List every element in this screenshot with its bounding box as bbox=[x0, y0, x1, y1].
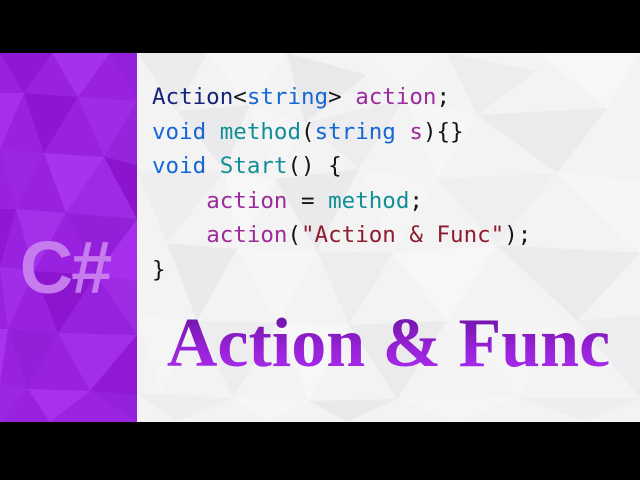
content-band: Action & Func bbox=[0, 53, 640, 422]
code-line: Action<string> action; bbox=[152, 80, 531, 115]
code-token-punc: = bbox=[287, 188, 328, 214]
sidebar-panel: C# bbox=[0, 53, 137, 422]
code-token-keyword: string bbox=[247, 84, 328, 110]
code-token-space bbox=[342, 84, 356, 110]
code-snippet: Action<string> action;void method(string… bbox=[152, 80, 531, 287]
code-indent bbox=[152, 222, 206, 248]
code-token-punc: ( bbox=[301, 119, 315, 145]
csharp-logo: C# bbox=[0, 231, 137, 305]
code-line: action = method; bbox=[152, 184, 531, 219]
code-token-punc: } bbox=[152, 257, 166, 283]
code-line: } bbox=[152, 253, 531, 288]
code-token-punc: > bbox=[328, 84, 342, 110]
code-token-keyword: void bbox=[152, 153, 206, 179]
code-token-keyword: void bbox=[152, 119, 206, 145]
code-token-fn: method bbox=[328, 188, 409, 214]
code-token-punc: () { bbox=[287, 153, 341, 179]
code-token-string: "Action & Func" bbox=[301, 222, 504, 248]
code-token-punc: ( bbox=[287, 222, 301, 248]
code-line: void Start() { bbox=[152, 149, 531, 184]
code-token-type: Action bbox=[152, 84, 233, 110]
code-token-punc: ); bbox=[504, 222, 531, 248]
code-token-punc: ){} bbox=[423, 119, 464, 145]
code-token-fn: method bbox=[220, 119, 301, 145]
code-token-var: action bbox=[355, 84, 436, 110]
code-token-punc: ; bbox=[409, 188, 423, 214]
bottom-letterbox bbox=[0, 422, 640, 480]
video-frame: Action & Func bbox=[0, 0, 640, 480]
code-line: action("Action & Func"); bbox=[152, 218, 531, 253]
code-indent bbox=[152, 188, 206, 214]
code-token-punc: ; bbox=[436, 84, 450, 110]
code-token-var: action bbox=[206, 188, 287, 214]
page-title: Action & Func bbox=[137, 309, 640, 379]
code-token-var: s bbox=[409, 119, 423, 145]
code-token-space bbox=[206, 153, 220, 179]
code-token-var: action bbox=[206, 222, 287, 248]
code-token-space bbox=[396, 119, 410, 145]
code-token-keyword: string bbox=[315, 119, 396, 145]
top-letterbox bbox=[0, 0, 640, 53]
code-line: void method(string s){} bbox=[152, 115, 531, 150]
code-token-space bbox=[206, 119, 220, 145]
code-token-fn: Start bbox=[220, 153, 288, 179]
code-token-punc: < bbox=[233, 84, 247, 110]
